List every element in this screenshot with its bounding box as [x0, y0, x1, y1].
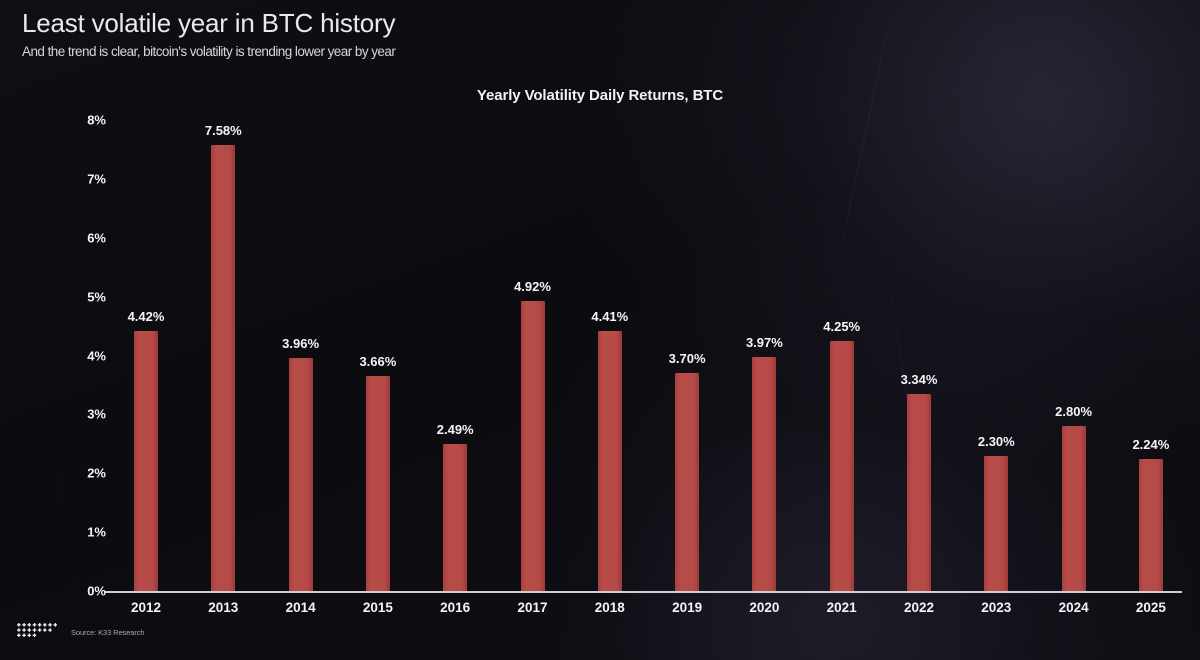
bar[interactable] — [907, 394, 931, 591]
bar-value-label: 2.49% — [410, 422, 500, 437]
y-axis-tick-label: 2% — [66, 466, 106, 481]
bar-value-label: 2.80% — [1029, 404, 1119, 419]
bar-chart-plot: 8%7%6%5%4%3%2%1%0%4.42%20127.58%20133.96… — [0, 0, 1200, 660]
y-axis-tick-label: 4% — [66, 348, 106, 363]
bar-value-label: 4.42% — [101, 309, 191, 324]
bar[interactable] — [830, 341, 854, 591]
bar-value-label: 4.41% — [565, 309, 655, 324]
bar[interactable] — [366, 376, 390, 591]
y-axis-tick-label: 8% — [66, 113, 106, 128]
bar[interactable] — [289, 358, 313, 591]
chart-slide: Least volatile year in BTC history And t… — [0, 0, 1200, 660]
slide-footer: Source: K33 Research — [16, 620, 144, 642]
x-axis-tick-label: 2025 — [1106, 600, 1196, 615]
source-label: Source: K33 Research — [71, 626, 144, 637]
bar-value-label: 2.24% — [1106, 437, 1196, 452]
bar[interactable] — [521, 301, 545, 591]
y-axis-tick-label: 1% — [66, 525, 106, 540]
bar-value-label: 3.34% — [874, 372, 964, 387]
bar[interactable] — [984, 456, 1008, 591]
k33-dot-grid-logo — [16, 620, 60, 642]
y-axis-tick-label: 5% — [66, 289, 106, 304]
y-axis-tick-label: 3% — [66, 407, 106, 422]
bar-value-label: 3.97% — [719, 335, 809, 350]
bar-value-label: 3.70% — [642, 351, 732, 366]
y-axis-tick-label: 6% — [66, 230, 106, 245]
bar[interactable] — [443, 444, 467, 591]
y-axis-tick-label: 0% — [66, 584, 106, 599]
bar[interactable] — [598, 331, 622, 591]
bar[interactable] — [211, 145, 235, 591]
bar-value-label: 3.66% — [333, 354, 423, 369]
bar[interactable] — [134, 331, 158, 591]
bar-value-label: 4.25% — [797, 319, 887, 334]
bar[interactable] — [752, 357, 776, 591]
bar[interactable] — [1139, 459, 1163, 591]
bar-value-label: 7.58% — [178, 123, 268, 138]
bar-value-label: 2.30% — [951, 434, 1041, 449]
bar[interactable] — [1062, 426, 1086, 591]
bar-value-label: 4.92% — [488, 279, 578, 294]
x-axis-line — [104, 591, 1182, 593]
y-axis-tick-label: 7% — [66, 171, 106, 186]
bar-value-label: 3.96% — [256, 336, 346, 351]
bar[interactable] — [675, 373, 699, 591]
